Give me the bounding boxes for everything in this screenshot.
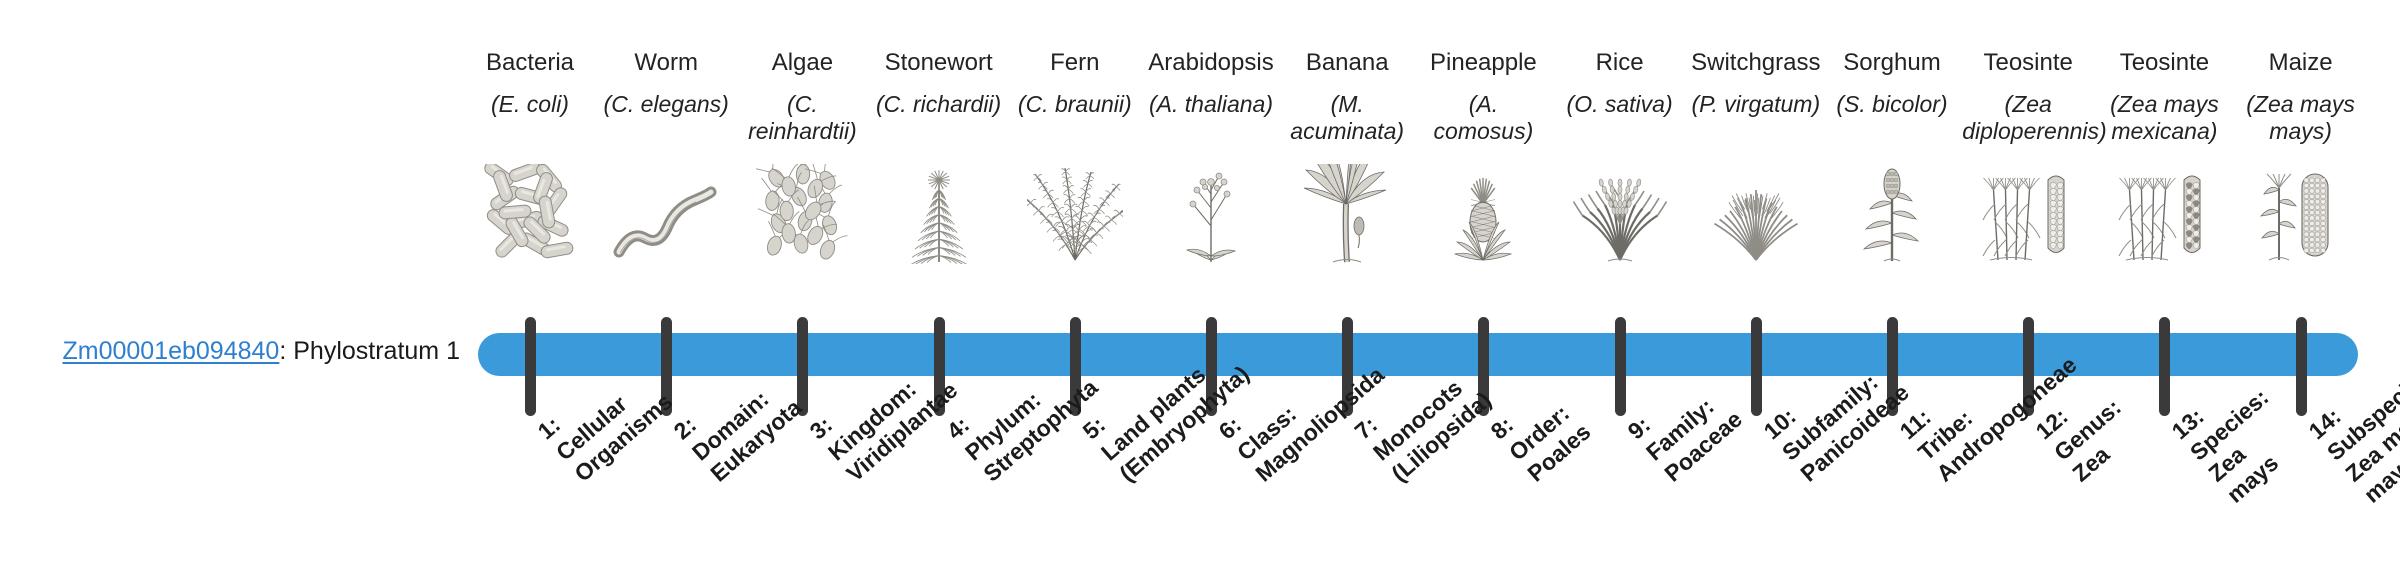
species-scientific-name: (C. braunii) bbox=[1007, 91, 1143, 118]
arabidopsis-illustration bbox=[1143, 164, 1279, 264]
species-common-name: Teosinte bbox=[2096, 48, 2232, 78]
species-header-row: Bacteria(E. coli) bbox=[462, 48, 2362, 303]
species-common-name: Fern bbox=[1007, 48, 1143, 78]
species-column: Arabidopsis(A. thaliana) bbox=[1143, 48, 1279, 118]
species-column: Maize(Zea mays mays) bbox=[2233, 48, 2369, 145]
teosinte-mexicana-illustration bbox=[2096, 164, 2232, 264]
species-scientific-name: (S. bicolor) bbox=[1824, 91, 1960, 118]
gene-phylostratum-label: Zm00001eb094840: Phylostratum 1 bbox=[0, 336, 460, 366]
species-column: Fern(C. braunii) bbox=[1007, 48, 1143, 118]
species-scientific-name: (A. comosus) bbox=[1415, 91, 1551, 145]
teosinte-diploperennis-illustration bbox=[1960, 164, 2096, 264]
worm-illustration bbox=[598, 164, 734, 264]
species-column: Pineapple(A. comosus) bbox=[1415, 48, 1551, 145]
species-common-name: Rice bbox=[1552, 48, 1688, 78]
species-common-name: Pineapple bbox=[1415, 48, 1551, 78]
species-scientific-name: (Zea diploperennis) bbox=[1960, 91, 2096, 145]
species-scientific-name: (Zea mays mexicana) bbox=[2096, 91, 2232, 145]
pineapple-illustration bbox=[1415, 164, 1551, 264]
switchgrass-illustration bbox=[1688, 164, 1824, 264]
species-scientific-name: (C. reinhardtii) bbox=[734, 91, 870, 145]
species-common-name: Stonewort bbox=[871, 48, 1007, 78]
species-common-name: Switchgrass bbox=[1688, 48, 1824, 78]
species-column: Rice(O. sativa) bbox=[1552, 48, 1688, 118]
species-column: Sorghum(S. bicolor) bbox=[1824, 48, 1960, 118]
species-common-name: Maize bbox=[2233, 48, 2369, 78]
species-common-name: Arabidopsis bbox=[1143, 48, 1279, 78]
species-column: Banana(M. acuminata) bbox=[1279, 48, 1415, 145]
maize-illustration bbox=[2233, 164, 2369, 264]
species-common-name: Banana bbox=[1279, 48, 1415, 78]
species-scientific-name: (C. richardii) bbox=[871, 91, 1007, 118]
species-column: Stonewort(C. richardii) bbox=[871, 48, 1007, 118]
stonewort-illustration bbox=[871, 164, 1007, 264]
species-scientific-name: (E. coli) bbox=[462, 91, 598, 118]
species-column: Algae(C. reinhardtii) bbox=[734, 48, 870, 145]
fern-illustration bbox=[1007, 164, 1143, 264]
sorghum-illustration bbox=[1824, 164, 1960, 264]
species-scientific-name: (C. elegans) bbox=[598, 91, 734, 118]
species-scientific-name: (A. thaliana) bbox=[1143, 91, 1279, 118]
phylostratum-figure: Zm00001eb094840: Phylostratum 1 Bacteria… bbox=[0, 0, 2400, 580]
species-column: Switchgrass(P. virgatum) bbox=[1688, 48, 1824, 118]
species-common-name: Sorghum bbox=[1824, 48, 1960, 78]
species-scientific-name: (P. virgatum) bbox=[1688, 91, 1824, 118]
bacteria-illustration bbox=[462, 164, 598, 264]
species-column: Worm(C. elegans) bbox=[598, 48, 734, 118]
banana-illustration bbox=[1279, 164, 1415, 264]
species-scientific-name: (O. sativa) bbox=[1552, 91, 1688, 118]
species-scientific-name: (M. acuminata) bbox=[1279, 91, 1415, 145]
gene-label-separator: : bbox=[279, 337, 293, 365]
species-common-name: Teosinte bbox=[1960, 48, 2096, 78]
rice-illustration bbox=[1552, 164, 1688, 264]
species-scientific-name: (Zea mays mays) bbox=[2233, 91, 2369, 145]
species-column: Bacteria(E. coli) bbox=[462, 48, 598, 118]
phylostratum-value: Phylostratum 1 bbox=[293, 337, 460, 365]
species-common-name: Bacteria bbox=[462, 48, 598, 78]
species-common-name: Algae bbox=[734, 48, 870, 78]
species-common-name: Worm bbox=[598, 48, 734, 78]
algae-illustration bbox=[734, 164, 870, 264]
species-column: Teosinte(Zea mays mexicana) bbox=[2096, 48, 2232, 145]
species-column: Teosinte(Zea diploperennis) bbox=[1960, 48, 2096, 145]
gene-id-link[interactable]: Zm00001eb094840 bbox=[62, 337, 279, 365]
phylostratum-tick[interactable] bbox=[525, 317, 536, 416]
